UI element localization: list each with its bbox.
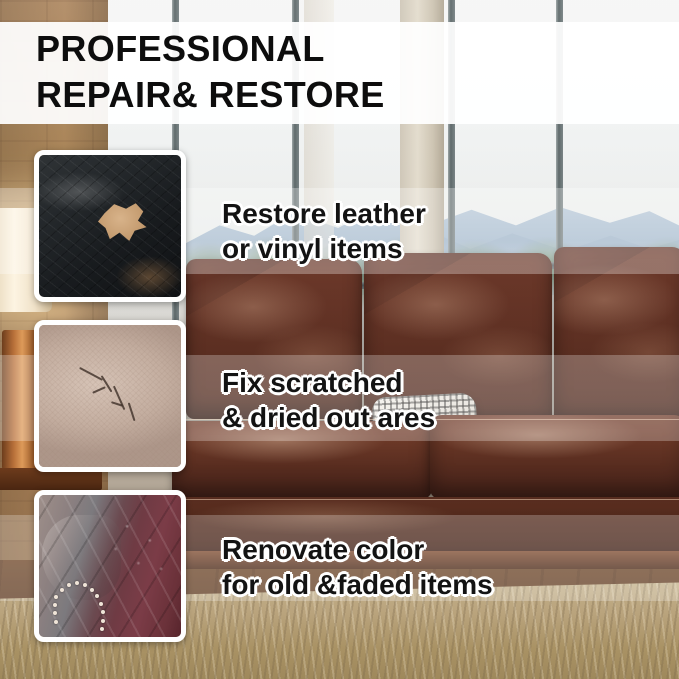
feature-thumbnail-fix-scratched <box>34 320 186 472</box>
chesterfield-armrest-image <box>39 495 181 637</box>
damaged-leather-image <box>39 155 181 297</box>
feature-thumbnail-restore-leather <box>34 150 186 302</box>
page-title: PROFESSIONAL REPAIR& RESTORE <box>36 26 636 118</box>
sofa-stitch-line <box>176 499 679 500</box>
cracked-leather-image <box>39 325 181 467</box>
nailhead-trim <box>50 575 138 635</box>
product-feature-poster: PROFESSIONAL REPAIR& RESTORE Restore lea… <box>0 0 679 679</box>
crack-lines <box>76 362 164 442</box>
feature-caption-fix-scratched: Fix scratched & dried out ares <box>222 365 662 436</box>
feature-caption-restore-leather: Restore leather or vinyl items <box>222 196 662 267</box>
feature-caption-renovate-color: Renovate color for old &faded items <box>222 532 662 603</box>
feature-thumbnail-renovate-color <box>34 490 186 642</box>
